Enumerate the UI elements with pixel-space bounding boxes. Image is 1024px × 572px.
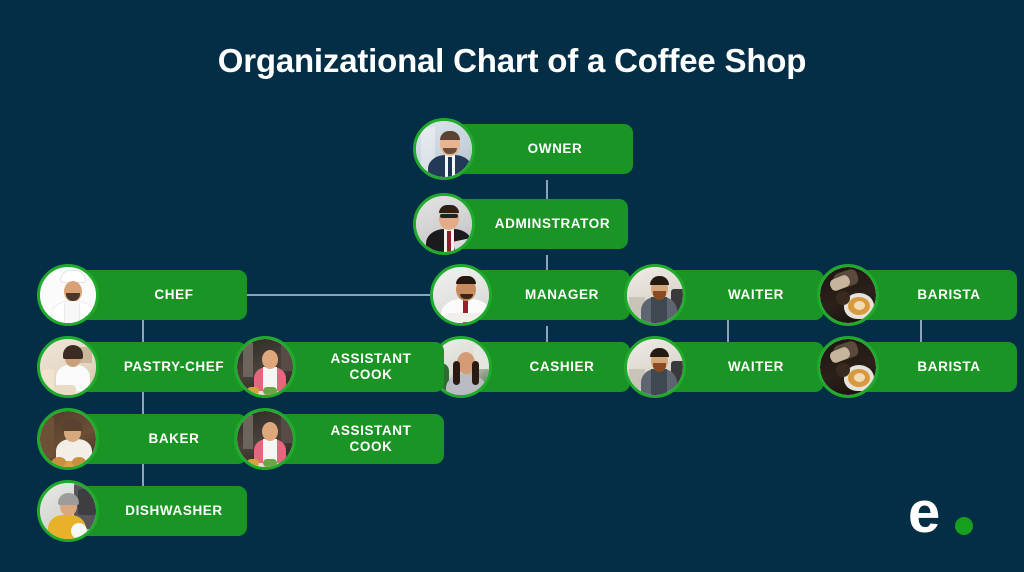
avatar-assistant-cook-1: [234, 336, 296, 398]
node-label-owner: OWNER: [528, 141, 583, 157]
node-label-administrator: ADMINSTRATOR: [495, 216, 610, 232]
avatar-manager: [430, 264, 492, 326]
node-label-manager: MANAGER: [525, 287, 599, 303]
avatar-dishwasher: [37, 480, 99, 542]
avatar-owner: [413, 118, 475, 180]
page-title: Organizational Chart of a Coffee Shop: [0, 42, 1024, 80]
avatar-barista-2: [817, 336, 879, 398]
node-label-barista-1: BARISTA: [917, 287, 980, 303]
logo-dot-icon: [955, 517, 973, 535]
svg-text:e: e: [908, 486, 940, 538]
node-label-pastry-chef: PASTRY-CHEF: [124, 359, 224, 375]
avatar-assistant-cook-2: [234, 408, 296, 470]
avatar-chef: [37, 264, 99, 326]
avatar-baker: [37, 408, 99, 470]
org-chart-canvas: Organizational Chart of a Coffee Shop OW…: [0, 0, 1024, 572]
node-label-assistant-cook-2: ASSISTANT COOK: [331, 423, 412, 455]
node-label-dishwasher: DISHWASHER: [125, 503, 223, 519]
node-label-assistant-cook-1: ASSISTANT COOK: [331, 351, 412, 383]
brand-logo: e: [906, 486, 986, 538]
node-label-barista-2: BARISTA: [917, 359, 980, 375]
avatar-waiter-1: [624, 264, 686, 326]
avatar-pastry-chef: [37, 336, 99, 398]
avatar-administrator: [413, 193, 475, 255]
node-label-chef: CHEF: [154, 287, 193, 303]
avatar-barista-1: [817, 264, 879, 326]
logo-e-icon: e: [906, 486, 986, 538]
avatar-waiter-2: [624, 336, 686, 398]
node-label-cashier: CASHIER: [530, 359, 595, 375]
node-label-waiter-2: WAITER: [728, 359, 784, 375]
node-label-waiter-1: WAITER: [728, 287, 784, 303]
node-label-baker: BAKER: [148, 431, 199, 447]
